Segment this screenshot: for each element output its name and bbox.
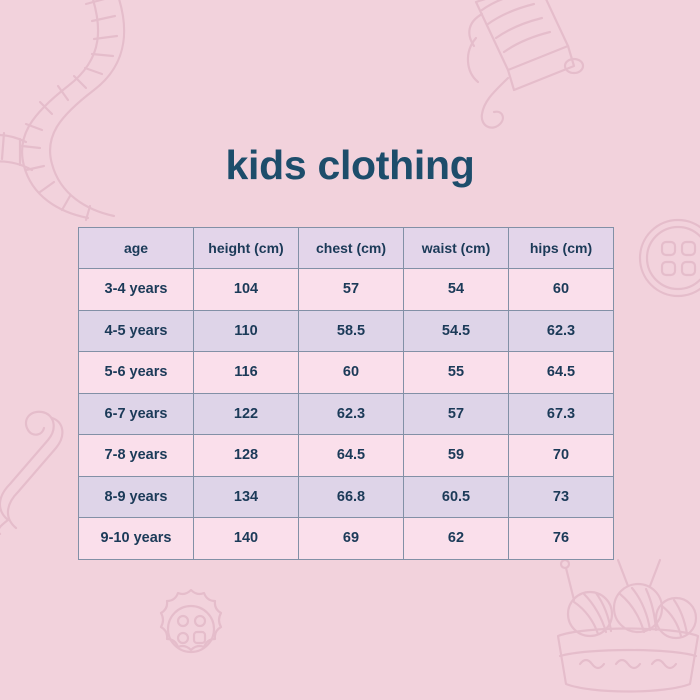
cell-chest: 66.8 xyxy=(299,476,404,518)
table-row: 9-10 years 140 69 62 76 xyxy=(79,518,614,560)
column-header-chest: chest (cm) xyxy=(299,228,404,269)
button-icon xyxy=(636,216,700,300)
cell-age: 3-4 years xyxy=(79,269,194,311)
column-header-waist: waist (cm) xyxy=(404,228,509,269)
cell-chest: 58.5 xyxy=(299,310,404,352)
table-header-row: age height (cm) chest (cm) waist (cm) hi… xyxy=(79,228,614,269)
cell-chest: 64.5 xyxy=(299,435,404,477)
cell-age: 5-6 years xyxy=(79,352,194,394)
table-header: age height (cm) chest (cm) waist (cm) hi… xyxy=(79,228,614,269)
cell-hips: 73 xyxy=(509,476,614,518)
cell-hips: 62.3 xyxy=(509,310,614,352)
cell-height: 134 xyxy=(194,476,299,518)
cell-height: 122 xyxy=(194,393,299,435)
column-header-hips: hips (cm) xyxy=(509,228,614,269)
cell-hips: 67.3 xyxy=(509,393,614,435)
scalloped-button-icon xyxy=(148,586,234,672)
cell-hips: 60 xyxy=(509,269,614,311)
size-chart-table-container: age height (cm) chest (cm) waist (cm) hi… xyxy=(78,227,614,553)
cell-height: 110 xyxy=(194,310,299,352)
cell-height: 128 xyxy=(194,435,299,477)
cell-age: 8-9 years xyxy=(79,476,194,518)
cell-chest: 69 xyxy=(299,518,404,560)
cell-hips: 64.5 xyxy=(509,352,614,394)
cell-age: 7-8 years xyxy=(79,435,194,477)
table-row: 3-4 years 104 57 54 60 xyxy=(79,269,614,311)
cell-height: 104 xyxy=(194,269,299,311)
table-row: 5-6 years 116 60 55 64.5 xyxy=(79,352,614,394)
column-header-height: height (cm) xyxy=(194,228,299,269)
cell-chest: 60 xyxy=(299,352,404,394)
cell-height: 116 xyxy=(194,352,299,394)
cell-waist: 57 xyxy=(404,393,509,435)
table-row: 8-9 years 134 66.8 60.5 73 xyxy=(79,476,614,518)
size-chart-page: kids clothing age height (cm) chest (cm)… xyxy=(0,0,700,700)
cell-waist: 54.5 xyxy=(404,310,509,352)
table-row: 6-7 years 122 62.3 57 67.3 xyxy=(79,393,614,435)
yarn-basket-icon xyxy=(554,552,700,700)
thread-spool-icon xyxy=(452,0,602,134)
cell-age: 6-7 years xyxy=(79,393,194,435)
page-title: kids clothing xyxy=(0,142,700,189)
table-body: 3-4 years 104 57 54 60 4-5 years 110 58.… xyxy=(79,269,614,560)
cell-waist: 62 xyxy=(404,518,509,560)
cell-hips: 76 xyxy=(509,518,614,560)
cell-hips: 70 xyxy=(509,435,614,477)
size-chart-table: age height (cm) chest (cm) waist (cm) hi… xyxy=(78,227,614,560)
safety-pin-icon xyxy=(0,404,82,534)
cell-waist: 59 xyxy=(404,435,509,477)
cell-waist: 60.5 xyxy=(404,476,509,518)
cell-waist: 54 xyxy=(404,269,509,311)
table-row: 7-8 years 128 64.5 59 70 xyxy=(79,435,614,477)
cell-age: 9-10 years xyxy=(79,518,194,560)
cell-chest: 62.3 xyxy=(299,393,404,435)
table-row: 4-5 years 110 58.5 54.5 62.3 xyxy=(79,310,614,352)
column-header-age: age xyxy=(79,228,194,269)
cell-waist: 55 xyxy=(404,352,509,394)
cell-age: 4-5 years xyxy=(79,310,194,352)
cell-height: 140 xyxy=(194,518,299,560)
cell-chest: 57 xyxy=(299,269,404,311)
